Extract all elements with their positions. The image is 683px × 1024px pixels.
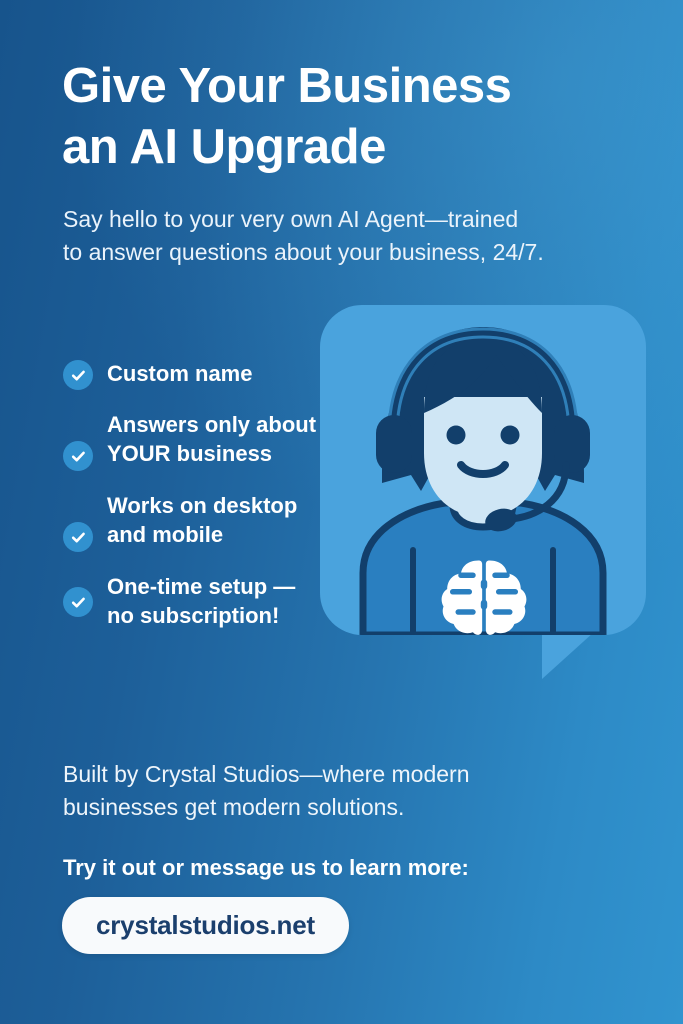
headline-line-1: Give Your Business	[62, 59, 511, 113]
headline-line-2: an AI Upgrade	[62, 117, 632, 178]
check-icon	[63, 587, 93, 617]
subtitle: Say hello to your very own AI Agent—trai…	[63, 203, 623, 270]
website-url-button[interactable]: crystalstudios.net	[62, 897, 349, 954]
headset-earcup-left	[376, 415, 412, 473]
subtitle-line-2: to answer questions about your business,…	[63, 236, 623, 269]
eye-left	[447, 426, 466, 445]
agent-illustration	[320, 305, 646, 660]
built-by-text: Built by Crystal Studios—where modern bu…	[63, 758, 603, 823]
feature-label: Custom name	[107, 358, 252, 388]
feature-label: One-time setup — no subscription!	[107, 571, 321, 631]
list-item: Works on desktop and mobile	[63, 490, 321, 552]
subtitle-line-1: Say hello to your very own AI Agent—trai…	[63, 206, 518, 232]
list-item: Answers only about YOUR business	[63, 409, 321, 471]
avatar	[320, 305, 646, 635]
feature-label: Answers only about YOUR business	[107, 409, 321, 469]
built-by-line-1: Built by Crystal Studios—where modern	[63, 761, 470, 787]
list-item: Custom name	[63, 358, 321, 390]
list-item: One-time setup — no subscription!	[63, 571, 321, 631]
built-by-line-2: businesses get modern solutions.	[63, 791, 603, 824]
check-icon	[63, 441, 93, 471]
eye-right	[501, 426, 520, 445]
headset-earcup-right	[554, 415, 590, 473]
check-icon	[63, 522, 93, 552]
feature-list: Custom name Answers only about YOUR busi…	[63, 358, 321, 650]
poster-content: Give Your Business an AI Upgrade Say hel…	[0, 0, 683, 1024]
face	[424, 397, 542, 517]
check-icon	[63, 360, 93, 390]
feature-label: Works on desktop and mobile	[107, 490, 321, 550]
page-title: Give Your Business an AI Upgrade	[62, 56, 632, 179]
poster-canvas: Give Your Business an AI Upgrade Say hel…	[0, 0, 683, 1024]
cta-text: Try it out or message us to learn more:	[63, 855, 623, 881]
